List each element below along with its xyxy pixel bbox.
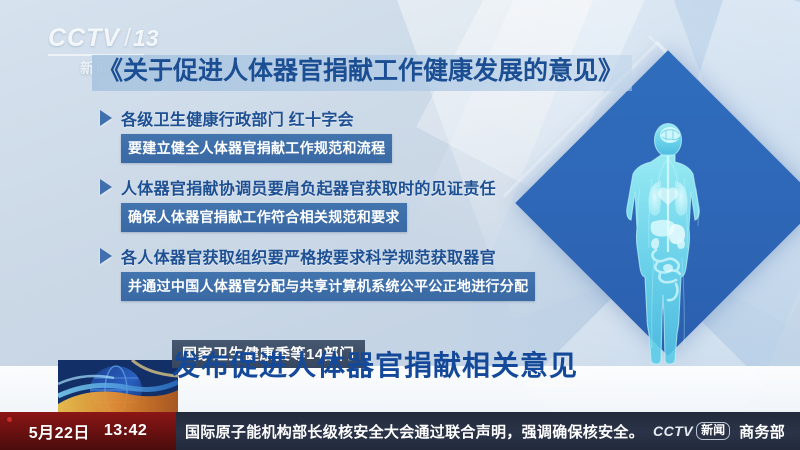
ticker-logo-cctv: CCTV [653,423,693,439]
bullet-sub-text: 要建立健全人体器官捐献工作规范和流程 [121,134,392,163]
bullet-sub-text: 并通过中国人体器官分配与共享计算机系统公平公正地进行分配 [121,272,535,301]
triangle-bullet-icon [100,179,112,195]
news-globe-icon [58,360,178,412]
headline-band: 《关于促进人体器官捐献工作健康发展的意见》 [92,55,632,91]
news-ticker: 5月22日 13:42 国际原子能机构部长级核安全大会通过联合声明，强调确保核安… [0,412,800,450]
triangle-bullet-icon [100,248,112,264]
triangle-bullet-icon [100,110,112,126]
bullet-main-text: 各级卫生健康行政部门 红十字会 [121,106,354,130]
ticker-datetime: 5月22日 13:42 [0,412,176,450]
bullet-sub-text: 确保人体器官捐献工作符合相关规范和要求 [121,203,407,232]
ticker-cctv-news-logo-icon: CCTV 新闻 [653,422,730,440]
ticker-content: 国际原子能机构部长级核安全大会通过联合声明，强调确保核安全。 CCTV 新闻 商… [176,421,800,442]
bullet-main-text: 各人体器官获取组织要严格按要求科学规范获取器官 [121,244,496,268]
page-title: 《关于促进人体器官捐献工作健康发展的意见》 [98,58,623,86]
ticker-time: 13:42 [104,422,147,440]
ticker-headline: 国际原子能机构部长级核安全大会通过联合声明，强调确保核安全。 [185,421,644,442]
lower-third-headline: 发布促进人体器官捐献相关意见 [172,344,578,384]
ticker-date: 5月22日 [29,419,90,443]
human-body-organs-illustration [604,118,732,370]
bullet-main-text: 人体器官捐献协调员要肩负起器官获取时的见证责任 [121,175,496,199]
ticker-logo-news: 新闻 [696,422,730,440]
cctv-logo-text: CCTV [48,24,120,53]
lower-third: 国家卫生健康委等14部门 发布促进人体器官捐献相关意见 [0,340,800,412]
cctv-logo-slash: / [124,24,131,53]
bullet-item: 人体器官捐献协调员要肩负起器官获取时的见证责任 确保人体器官捐献工作符合相关规范… [100,175,535,232]
cctv-logo-number: 13 [133,25,159,52]
bullet-list: 各级卫生健康行政部门 红十字会 要建立健全人体器官捐献工作规范和流程 人体器官捐… [100,106,535,313]
ticker-next-headline: 商务部 [739,421,785,442]
broadcast-screen: CCTV / 13 新闻 《关于促进人体器官捐献工作健康发展的意见》 各级卫生健… [0,0,800,450]
bullet-item: 各级卫生健康行政部门 红十字会 要建立健全人体器官捐献工作规范和流程 [100,106,535,163]
bullet-item: 各人体器官获取组织要严格按要求科学规范获取器官 并通过中国人体器官分配与共享计算… [100,244,535,301]
